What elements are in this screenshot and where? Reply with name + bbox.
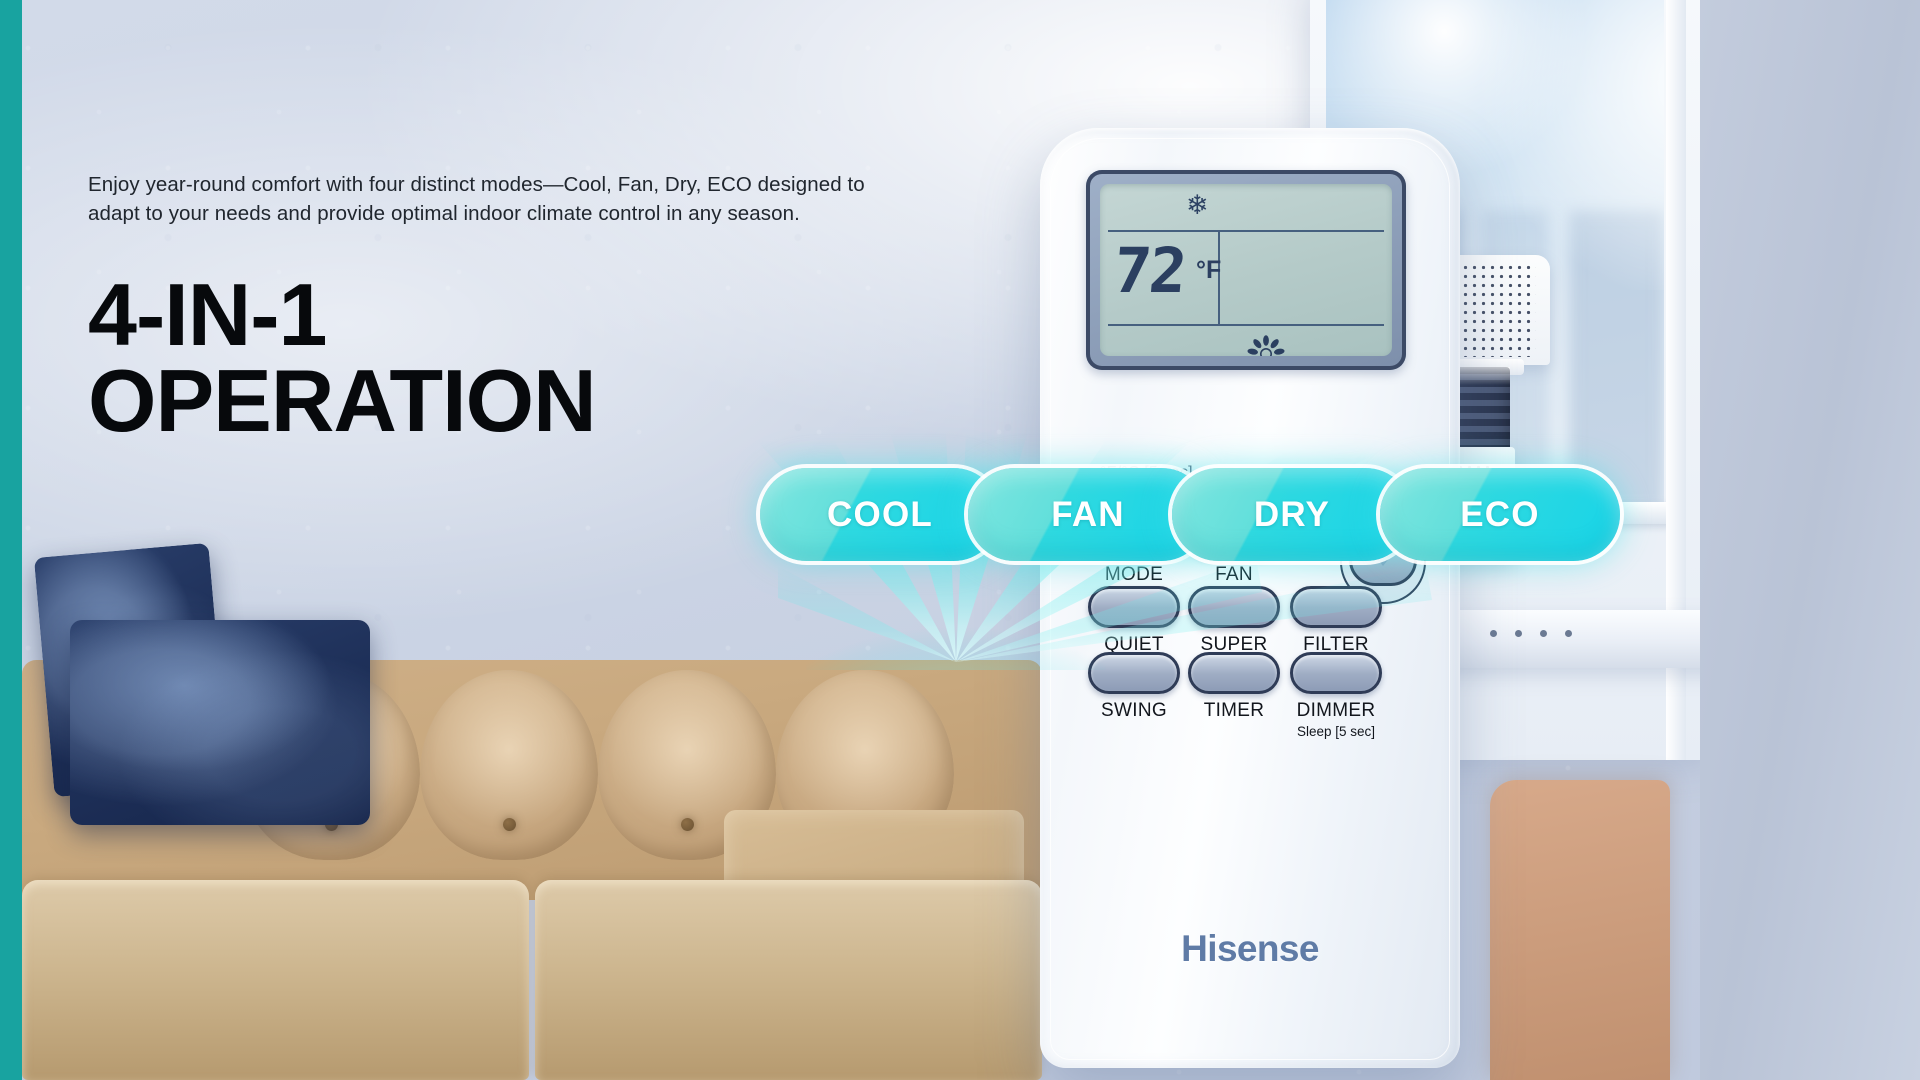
lcd-temperature-unit: °F — [1196, 258, 1221, 283]
timer-button[interactable] — [1188, 652, 1280, 694]
mode-pill-fan-label: FAN — [1051, 495, 1125, 535]
mode-pill-dry[interactable]: DRY — [1172, 468, 1412, 561]
mode-pill-dry-label: DRY — [1254, 495, 1330, 535]
lcd-divider-bottom — [1108, 324, 1384, 326]
quiet-button[interactable] — [1088, 586, 1180, 628]
snowflake-icon: ❄ — [1186, 192, 1209, 219]
marketing-copy: Enjoy year-round comfort with four disti… — [88, 170, 908, 443]
mode-pill-cool[interactable]: COOL — [760, 468, 1000, 561]
super-button[interactable] — [1188, 586, 1280, 628]
sofa — [22, 660, 1042, 1080]
sofa-seat-cushions — [22, 880, 1042, 1080]
sill-screws — [1490, 630, 1572, 637]
lcd-display: ❄ 72 °F — [1100, 184, 1392, 356]
fan-button-label: FAN — [1174, 564, 1294, 586]
dimmer-button-sublabel: Sleep [5 sec] — [1266, 724, 1406, 739]
mode-pill-cool-label: COOL — [827, 495, 933, 535]
swing-button[interactable] — [1088, 652, 1180, 694]
mode-pill-eco[interactable]: ECO — [1380, 468, 1620, 561]
scene-stage: Enjoy year-round comfort with four disti… — [0, 0, 1920, 1080]
throw-pillow-lumbar — [70, 620, 370, 825]
brand-logo: Hisense — [1040, 928, 1460, 970]
fan-blades-icon — [1246, 334, 1286, 356]
subheading-paragraph: Enjoy year-round comfort with four disti… — [88, 170, 908, 228]
dimmer-button-label: DIMMER — [1276, 700, 1396, 722]
remote-control: ❄ 72 °F — [1040, 128, 1460, 1068]
page-title: 4-IN-1 OPERATION — [88, 272, 908, 443]
filter-button[interactable] — [1290, 586, 1382, 628]
mode-pill-eco-label: ECO — [1460, 495, 1539, 535]
lcd-temperature-value: 72 — [1111, 240, 1187, 302]
dimmer-button[interactable] — [1290, 652, 1382, 694]
wall-right-return — [1700, 0, 1920, 1080]
brand-accent-bar — [0, 0, 22, 1080]
headline-line-1: 4-IN-1 — [88, 265, 327, 364]
lcd-divider-top — [1108, 230, 1384, 232]
lcd-bezel: ❄ 72 °F — [1086, 170, 1406, 370]
armchair — [1490, 780, 1670, 1080]
headline-line-2: OPERATION — [88, 358, 908, 443]
